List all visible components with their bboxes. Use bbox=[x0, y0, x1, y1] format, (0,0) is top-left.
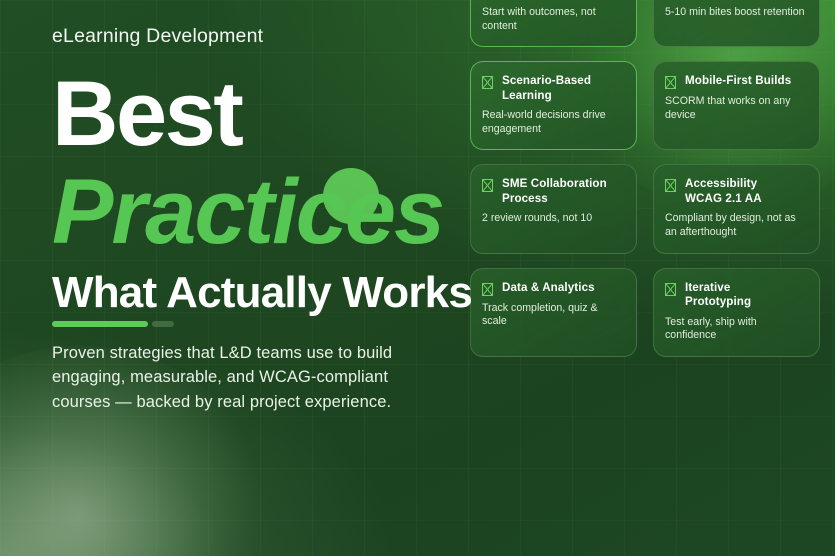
best-practices-card-grid: Learner-Centered DesignStart with outcom… bbox=[470, 0, 820, 357]
progress-segment-filled bbox=[52, 321, 148, 327]
practice-card-title: Mobile-First Builds bbox=[685, 74, 791, 89]
progress-indicator bbox=[52, 321, 176, 327]
headline-line-1: Best bbox=[52, 68, 241, 160]
hero-description: Proven strategies that L&D teams use to … bbox=[52, 341, 442, 414]
practice-card-header: Accessibility WCAG 2.1 AA bbox=[665, 177, 807, 206]
practice-card-description: 5-10 min bites boost retention bbox=[665, 6, 807, 20]
practice-card-header: Mobile-First Builds bbox=[665, 74, 807, 89]
progress-segment-empty bbox=[152, 321, 174, 327]
slide-canvas: Learner-Centered DesignStart with outcom… bbox=[0, 0, 835, 556]
practice-card-title: Iterative Prototyping bbox=[685, 281, 797, 310]
practice-card[interactable]: Mobile-First BuildsSCORM that works on a… bbox=[653, 61, 820, 150]
mobile-icon bbox=[665, 76, 676, 89]
practice-card-description: Test early, ship with confidence bbox=[665, 316, 807, 343]
practice-card[interactable]: Accessibility WCAG 2.1 AACompliant by de… bbox=[653, 164, 820, 253]
practice-card-title: Accessibility WCAG 2.1 AA bbox=[685, 177, 797, 206]
hero-text-column: eLearning Development Best Practices Wha… bbox=[52, 0, 522, 556]
practice-card-description: Compliant by design, not as an afterthou… bbox=[665, 212, 807, 239]
headline-line-2: Practices bbox=[52, 166, 443, 258]
eyebrow-label: eLearning Development bbox=[52, 25, 263, 48]
headline-line-3: What Actually Works bbox=[52, 268, 472, 318]
loop-icon bbox=[665, 283, 676, 296]
practice-card-header: Iterative Prototyping bbox=[665, 281, 807, 310]
practice-card[interactable]: Microlearning Modules5-10 min bites boos… bbox=[653, 0, 820, 47]
practice-card[interactable]: Iterative PrototypingTest early, ship wi… bbox=[653, 268, 820, 357]
practice-card-description: SCORM that works on any device bbox=[665, 95, 807, 122]
accessibility-icon bbox=[665, 179, 676, 192]
